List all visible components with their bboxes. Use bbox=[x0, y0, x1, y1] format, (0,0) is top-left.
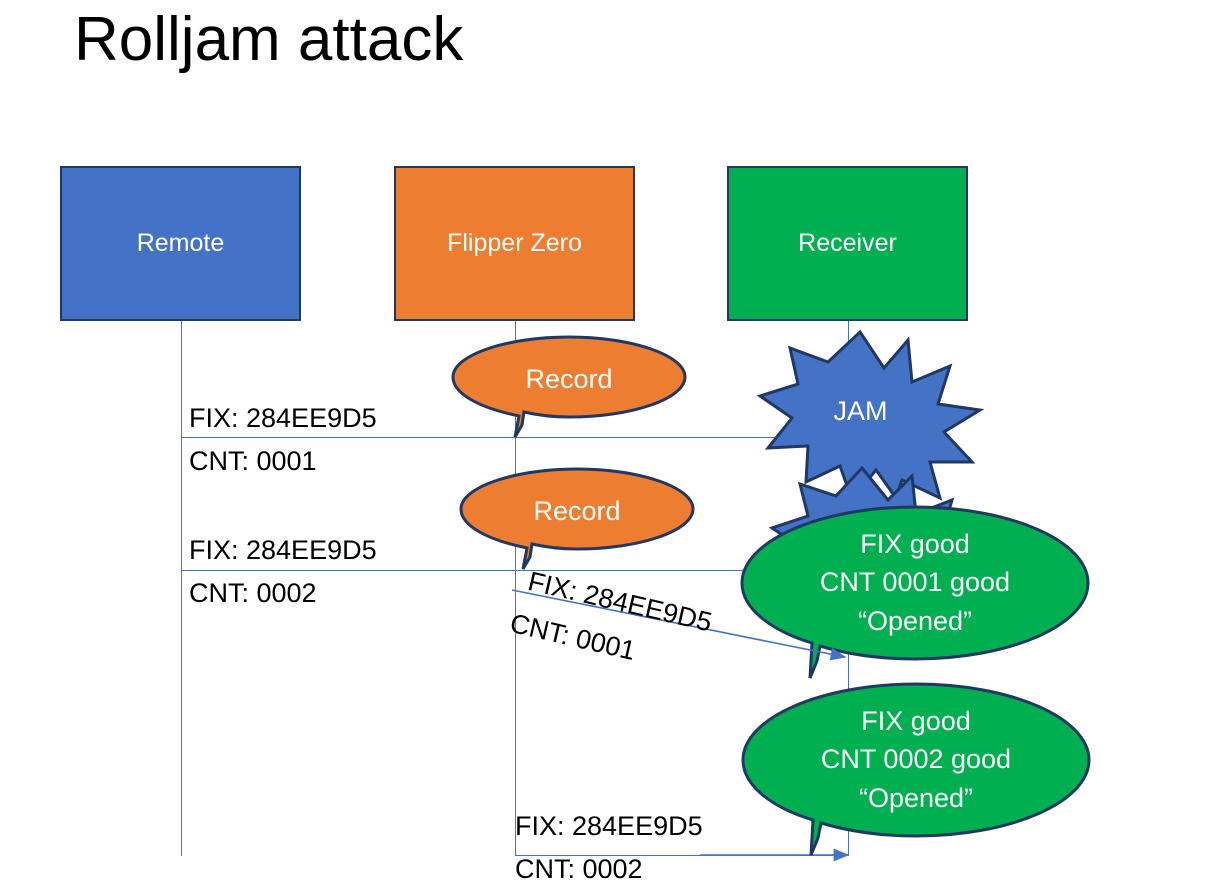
page-title: Rolljam attack bbox=[74, 4, 463, 75]
actor-label-remote: Remote bbox=[137, 229, 225, 258]
actor-box-remote[interactable]: Remote bbox=[60, 166, 301, 321]
callout-result-1-line3: “Opened” bbox=[742, 602, 1088, 640]
callout-result-1-line1: FIX good bbox=[742, 525, 1088, 563]
message-label-4-line2: CNT: 0002 bbox=[515, 855, 643, 884]
callout-result-2-line1: FIX good bbox=[743, 702, 1089, 740]
actor-box-flipper[interactable]: Flipper Zero bbox=[394, 166, 635, 321]
callout-record-2-label: Record bbox=[461, 492, 693, 530]
actor-label-flipper: Flipper Zero bbox=[447, 229, 582, 258]
callout-result-2: FIX good CNT 0002 good “Opened” bbox=[743, 702, 1089, 817]
callout-result-2-line2: CNT 0002 good bbox=[743, 740, 1089, 778]
callout-result-1-line2: CNT 0001 good bbox=[742, 563, 1088, 601]
message-label-2-line2: CNT: 0002 bbox=[189, 579, 317, 608]
message-label-1-line2: CNT: 0001 bbox=[189, 447, 317, 476]
callout-record-1-label: Record bbox=[453, 360, 685, 398]
actor-label-receiver: Receiver bbox=[798, 229, 897, 258]
message-label-1-line1: FIX: 284EE9D5 bbox=[189, 404, 377, 433]
callout-result-1: FIX good CNT 0001 good “Opened” bbox=[742, 525, 1088, 640]
message-line-1 bbox=[181, 437, 848, 438]
lifeline-flipper bbox=[515, 321, 516, 856]
slide-canvas: Rolljam attack Remote bbox=[0, 0, 1231, 892]
callout-result-2-line3: “Opened” bbox=[743, 779, 1089, 817]
message-label-4-line1: FIX: 284EE9D5 bbox=[515, 812, 703, 841]
message-label-2-line1: FIX: 284EE9D5 bbox=[189, 536, 377, 565]
actor-box-receiver[interactable]: Receiver bbox=[727, 166, 968, 321]
lifeline-remote bbox=[181, 321, 182, 856]
burst-jam-label: JAM bbox=[768, 396, 953, 427]
